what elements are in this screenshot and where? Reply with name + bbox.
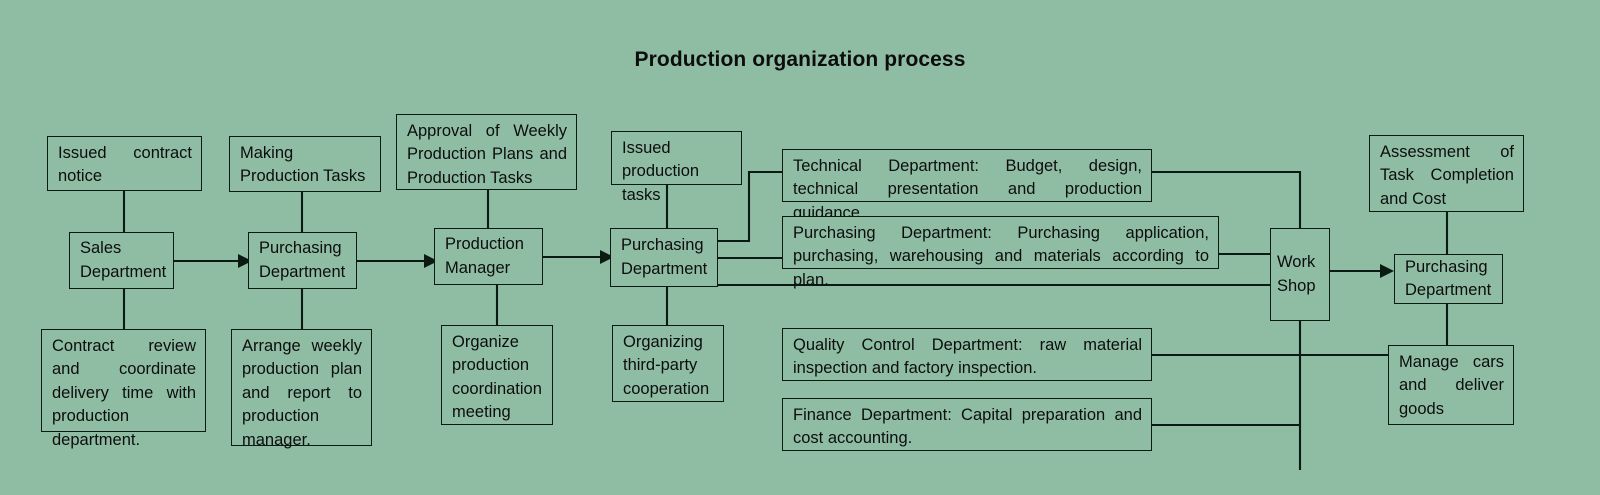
node-line: Organizing bbox=[623, 331, 714, 354]
node-line: Department bbox=[80, 261, 164, 284]
node-line: Department bbox=[621, 258, 708, 281]
node-line: third-party bbox=[623, 354, 714, 377]
node-organizing-third-party[interactable]: Organizing third-party cooperation bbox=[612, 325, 724, 402]
node-line: Work bbox=[1277, 251, 1323, 274]
node-purchasing-department-1[interactable]: Purchasing Department bbox=[248, 232, 357, 289]
arrowhead-workshop-to-purchasing3 bbox=[1380, 264, 1394, 278]
node-line: meeting bbox=[452, 401, 543, 424]
node-assessment-task-completion[interactable]: Assessment of Task Completion and Cost bbox=[1369, 135, 1524, 212]
node-sales-department[interactable]: Sales Department bbox=[69, 232, 174, 289]
node-line: Department bbox=[1405, 279, 1493, 302]
node-organize-coordination-meeting[interactable]: Organize production coordination meeting bbox=[441, 325, 553, 425]
node-approval-weekly-plans[interactable]: Approval of Weekly Production Plans and … bbox=[396, 114, 577, 190]
node-line: Issued bbox=[622, 137, 732, 160]
node-line: cooperation bbox=[623, 378, 714, 401]
node-making-production-tasks[interactable]: Making Production Tasks bbox=[229, 136, 381, 192]
node-contract-review[interactable]: Contract review and coordinate delivery … bbox=[41, 329, 206, 432]
node-manage-cars-deliver-goods[interactable]: Manage cars and deliver goods bbox=[1388, 345, 1514, 425]
node-line: Purchasing bbox=[621, 234, 708, 257]
node-purchasing-department-3[interactable]: Purchasing Department bbox=[1394, 254, 1503, 304]
node-line: Shop bbox=[1277, 275, 1323, 298]
node-production-manager[interactable]: Production Manager bbox=[434, 228, 543, 285]
node-line: Making bbox=[240, 142, 371, 165]
node-quality-control-department[interactable]: Quality Control Department: raw material… bbox=[782, 328, 1152, 381]
node-purchasing-department-2[interactable]: Purchasing Department bbox=[610, 228, 718, 287]
node-line: Organize bbox=[452, 331, 543, 354]
node-finance-department[interactable]: Finance Department: Capital preparation … bbox=[782, 398, 1152, 451]
node-arrange-weekly-plan[interactable]: Arrange weekly production plan and repor… bbox=[231, 329, 372, 446]
node-line: production tasks bbox=[622, 160, 732, 207]
node-line: Production Tasks bbox=[240, 165, 371, 188]
diagram-canvas: Production organization process bbox=[0, 0, 1600, 495]
node-work-shop[interactable]: Work Shop bbox=[1270, 228, 1330, 321]
node-line: Department bbox=[259, 261, 347, 284]
node-line: coordination bbox=[452, 378, 543, 401]
node-purchasing-department-detail[interactable]: Purchasing Department: Purchasing applic… bbox=[782, 216, 1219, 269]
node-line: Production bbox=[445, 233, 533, 256]
node-technical-department[interactable]: Technical Department: Budget, design, te… bbox=[782, 149, 1152, 202]
node-issued-contract-notice[interactable]: Issued contract notice bbox=[47, 136, 202, 191]
page-title: Production organization process bbox=[0, 48, 1600, 72]
node-line: Purchasing bbox=[1405, 256, 1493, 279]
node-line: Sales bbox=[80, 237, 164, 260]
node-line: Purchasing bbox=[259, 237, 347, 260]
node-line: Manager bbox=[445, 257, 533, 280]
node-line: production bbox=[452, 354, 543, 377]
node-issued-production-tasks[interactable]: Issued production tasks bbox=[611, 131, 742, 185]
